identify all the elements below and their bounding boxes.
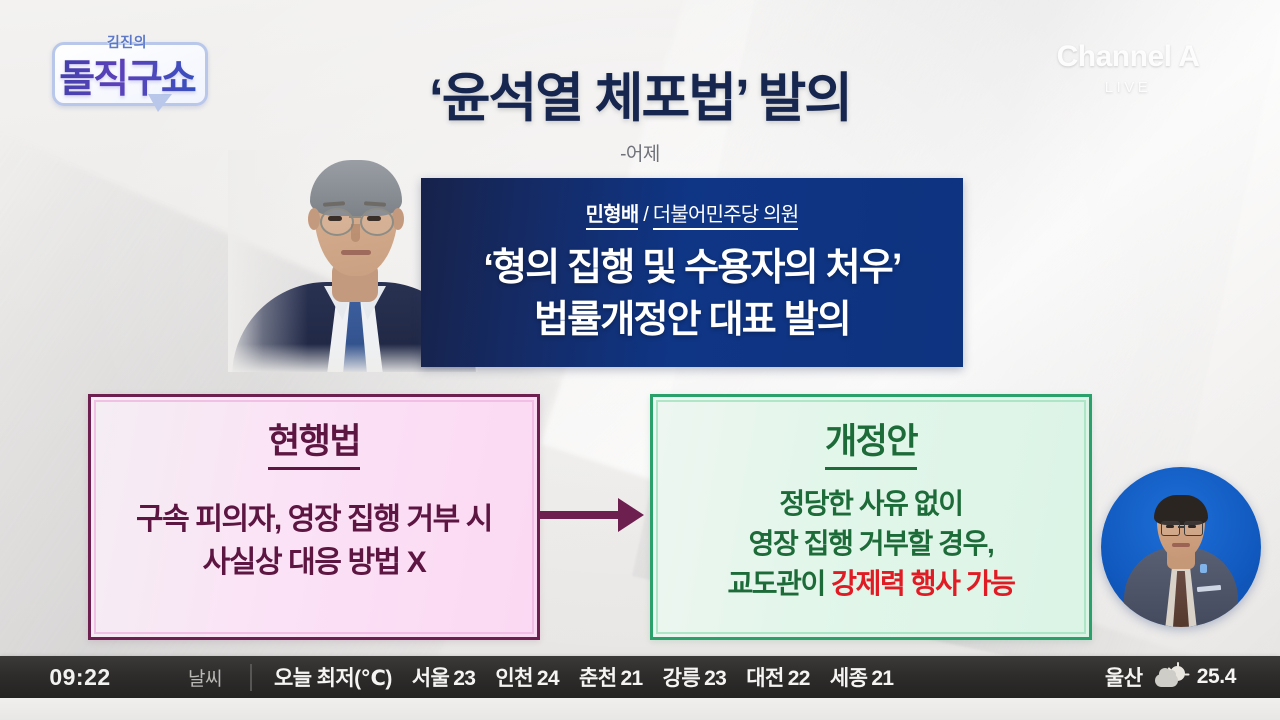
amendment-box: 개정안 정당한 사유 없이 영장 집행 거부할 경우, 교도관이 강제력 행사 …	[650, 394, 1092, 640]
amendment-line-3: 교도관이 강제력 행사 가능	[653, 564, 1089, 604]
current-law-body: 구속 피의자, 영장 집행 거부 시 사실상 대응 방법 X	[91, 498, 537, 584]
anchor-mouth	[1172, 543, 1190, 547]
current-law-line-2: 사실상 대응 방법 X	[91, 541, 537, 584]
current-law-box: 현행법 구속 피의자, 영장 집행 거부 시 사실상 대응 방법 X	[88, 394, 540, 640]
amendment-body: 정당한 사유 없이 영장 집행 거부할 경우, 교도관이 강제력 행사 가능	[653, 484, 1089, 604]
arrow-head	[618, 498, 644, 532]
anchor-inset	[1101, 467, 1261, 627]
anchor-eye-left	[1166, 525, 1174, 528]
current-law-heading-text: 현행법	[268, 422, 360, 470]
show-logo-main-text: 돌직구쇼	[52, 48, 202, 104]
news-ticker: 09:22 날씨 오늘 최저(℃) 서울 23 인천 24 춘천 21 강릉 2…	[0, 656, 1280, 698]
headline-subtitle: -어제	[0, 139, 1280, 166]
ticker-city-name: 춘천	[579, 662, 616, 692]
ticker-city-temp: 21	[620, 667, 642, 691]
sun-ray	[1177, 662, 1179, 667]
ticker-city-name: 세종	[830, 662, 867, 692]
photo-mouth	[341, 250, 371, 255]
ticker-city-temp: 23	[453, 667, 475, 691]
ticker-local-temp: 25.4	[1197, 665, 1236, 689]
photo-eye-right	[367, 216, 381, 221]
amendment-line-2: 영장 집행 거부할 경우,	[653, 524, 1089, 564]
photo-nose	[351, 224, 360, 242]
photo-glasses-bridge	[349, 216, 361, 218]
ticker-city-name: 강릉	[663, 662, 700, 692]
ticker-city-temp: 22	[788, 667, 810, 691]
ticker-city-1: 인천 24	[495, 662, 559, 692]
ticker-city-3: 강릉 23	[663, 662, 727, 692]
anchor-glasses-right-lens	[1184, 521, 1203, 536]
ticker-city-2: 춘천 21	[579, 662, 643, 692]
anchor-glasses-bridge	[1178, 526, 1184, 528]
quote-speaker: 민형배 / 더불어민주당 의원	[421, 198, 963, 227]
ticker-city-0: 서울 23	[412, 662, 476, 692]
current-law-heading: 현행법	[91, 413, 537, 464]
show-logo: 김진의 돌직구쇼	[52, 32, 202, 114]
amendment-line-3-prefix: 교도관이	[727, 568, 831, 599]
photo-ear-left	[308, 208, 320, 230]
current-law-line-1: 구속 피의자, 영장 집행 거부 시	[91, 498, 537, 541]
speaker-role: 더불어민주당 의원	[653, 204, 799, 230]
sun-cloud-icon	[1155, 666, 1185, 688]
ticker-city-temp: 23	[704, 667, 726, 691]
ticker-city-temp: 21	[871, 667, 893, 691]
amendment-heading-text: 개정안	[825, 422, 917, 470]
ticker-headline-prefix: 오늘 최저(℃)	[274, 662, 392, 692]
ticker-content: 오늘 최저(℃) 서울 23 인천 24 춘천 21 강릉 23 대전 22	[274, 662, 1105, 692]
photo-glasses-right-lens	[360, 208, 394, 236]
anchor-glasses-left-lens	[1161, 521, 1180, 536]
arrow-shaft	[540, 511, 625, 519]
quote-line-1: ‘형의 집행 및 수용자의 처우’	[421, 236, 963, 291]
ticker-city-5: 세종 21	[830, 662, 894, 692]
ticker-clock: 09:22	[0, 664, 160, 691]
amendment-line-3-highlight: 강제력 행사 가능	[831, 568, 1014, 599]
quote-line-2: 법률개정안 대표 발의	[421, 288, 963, 343]
sun-ray	[1184, 674, 1189, 676]
ticker-local-city: 울산	[1105, 662, 1143, 692]
ticker-city-4: 대전 22	[746, 662, 810, 692]
arrow-right-icon	[540, 498, 650, 532]
photo-glasses-left-lens	[320, 208, 354, 236]
ticker-city-name: 대전	[746, 662, 783, 692]
photo-hair	[310, 160, 402, 216]
ticker-category-label: 날씨	[160, 664, 252, 691]
speaker-name: 민형배	[586, 204, 639, 230]
ticker-city-temp: 24	[537, 667, 559, 691]
ticker-city-name: 서울	[412, 662, 449, 692]
speaker-divider: /	[638, 204, 652, 226]
amendment-line-1: 정당한 사유 없이	[653, 484, 1089, 524]
ticker-local-weather: 울산 25.4	[1105, 662, 1236, 692]
bottom-strip	[0, 698, 1280, 720]
ticker-city-name: 인천	[495, 662, 532, 692]
broadcast-screen: 김진의 돌직구쇼 Channel A LIVE ‘윤석열 체포법’ 발의 -어제	[0, 0, 1280, 720]
cloud-shape	[1155, 674, 1178, 687]
quote-panel: 민형배 / 더불어민주당 의원 ‘형의 집행 및 수용자의 처우’ 법률개정안 …	[421, 178, 963, 367]
anchor-eye-right	[1188, 525, 1196, 528]
amendment-heading: 개정안	[653, 413, 1089, 464]
photo-eye-left	[328, 216, 342, 221]
anchor-lapel-pin	[1200, 564, 1207, 573]
